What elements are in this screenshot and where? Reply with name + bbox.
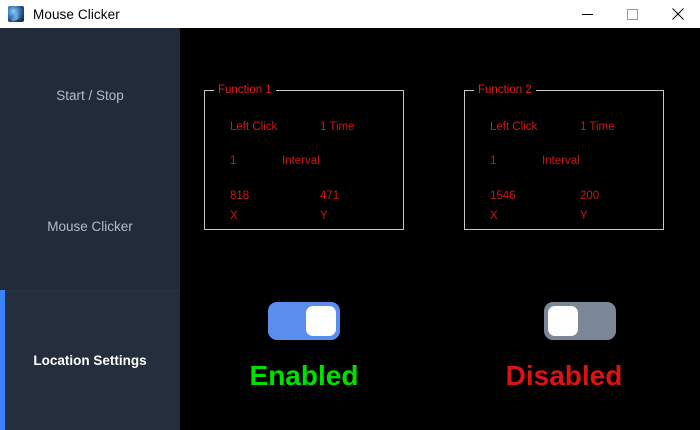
- function-1-toggle[interactable]: [268, 302, 340, 340]
- function-1-interval-value: 1: [230, 153, 236, 169]
- main-content: Function 1 Left Click 1 Time 1 Interval …: [180, 28, 700, 430]
- function-2-groupbox: Function 2 Left Click 1 Time 1 Interval …: [464, 90, 664, 230]
- function-1-x-label: X: [230, 208, 238, 224]
- sidebar-item-location-settings[interactable]: Location Settings: [0, 290, 180, 430]
- app-icon: [8, 6, 24, 22]
- function-2-toggle[interactable]: [544, 302, 616, 340]
- function-1-axis-row: X Y: [205, 208, 403, 224]
- function-1-action-row: Left Click 1 Time: [205, 119, 403, 135]
- toggle-knob: [306, 306, 336, 336]
- function-2-action-row: Left Click 1 Time: [465, 119, 663, 135]
- sidebar-item-label: Start / Stop: [56, 88, 124, 103]
- window-title: Mouse Clicker: [33, 7, 120, 22]
- title-bar: Mouse Clicker: [0, 0, 700, 28]
- function-1-groupbox: Function 1 Left Click 1 Time 1 Interval …: [204, 90, 404, 230]
- close-icon: [672, 8, 684, 20]
- function-2-coord-row: 1546 200: [465, 188, 663, 204]
- sidebar-item-label: Location Settings: [33, 353, 146, 368]
- app-window: Mouse Clicker Start / Stop: [0, 0, 700, 430]
- window-controls: [565, 0, 700, 28]
- function-1-interval-label: Interval: [282, 153, 320, 169]
- sidebar: Start / Stop Mouse Clicker Location Sett…: [0, 28, 180, 430]
- function-2-interval-value: 1: [490, 153, 496, 169]
- minimize-button[interactable]: [565, 0, 610, 28]
- function-2-status-label: Disabled: [464, 358, 664, 394]
- function-2-action-value: Left Click: [490, 119, 537, 135]
- function-1-legend: Function 1: [214, 83, 276, 97]
- function-1-status-label: Enabled: [204, 358, 404, 394]
- function-2-x-label: X: [490, 208, 498, 224]
- close-button[interactable]: [655, 0, 700, 28]
- sidebar-item-start-stop[interactable]: Start / Stop: [0, 28, 180, 163]
- function-1-action-value: Left Click: [230, 119, 277, 135]
- function-2-axis-row: X Y: [465, 208, 663, 224]
- minimize-icon: [582, 9, 593, 20]
- function-2-y-value: 200: [580, 188, 599, 204]
- toggle-knob: [548, 306, 578, 336]
- function-1-coord-row: 818 471: [205, 188, 403, 204]
- function-1-interval-row: 1 Interval: [205, 153, 403, 169]
- function-2-interval-row: 1 Interval: [465, 153, 663, 169]
- maximize-button[interactable]: [610, 0, 655, 28]
- sidebar-item-mouse-clicker[interactable]: Mouse Clicker: [0, 163, 180, 290]
- function-2-interval-label: Interval: [542, 153, 580, 169]
- function-1-times-value: 1 Time: [320, 119, 355, 135]
- sidebar-item-label: Mouse Clicker: [47, 219, 133, 234]
- function-1-y-label: Y: [320, 208, 328, 224]
- maximize-icon: [627, 9, 638, 20]
- function-1-y-value: 471: [320, 188, 339, 204]
- sidebar-selection-indicator: [0, 290, 5, 430]
- function-1-x-value: 818: [230, 188, 249, 204]
- function-2-x-value: 1546: [490, 188, 516, 204]
- function-2-times-value: 1 Time: [580, 119, 615, 135]
- function-2-y-label: Y: [580, 208, 588, 224]
- function-2-legend: Function 2: [474, 83, 536, 97]
